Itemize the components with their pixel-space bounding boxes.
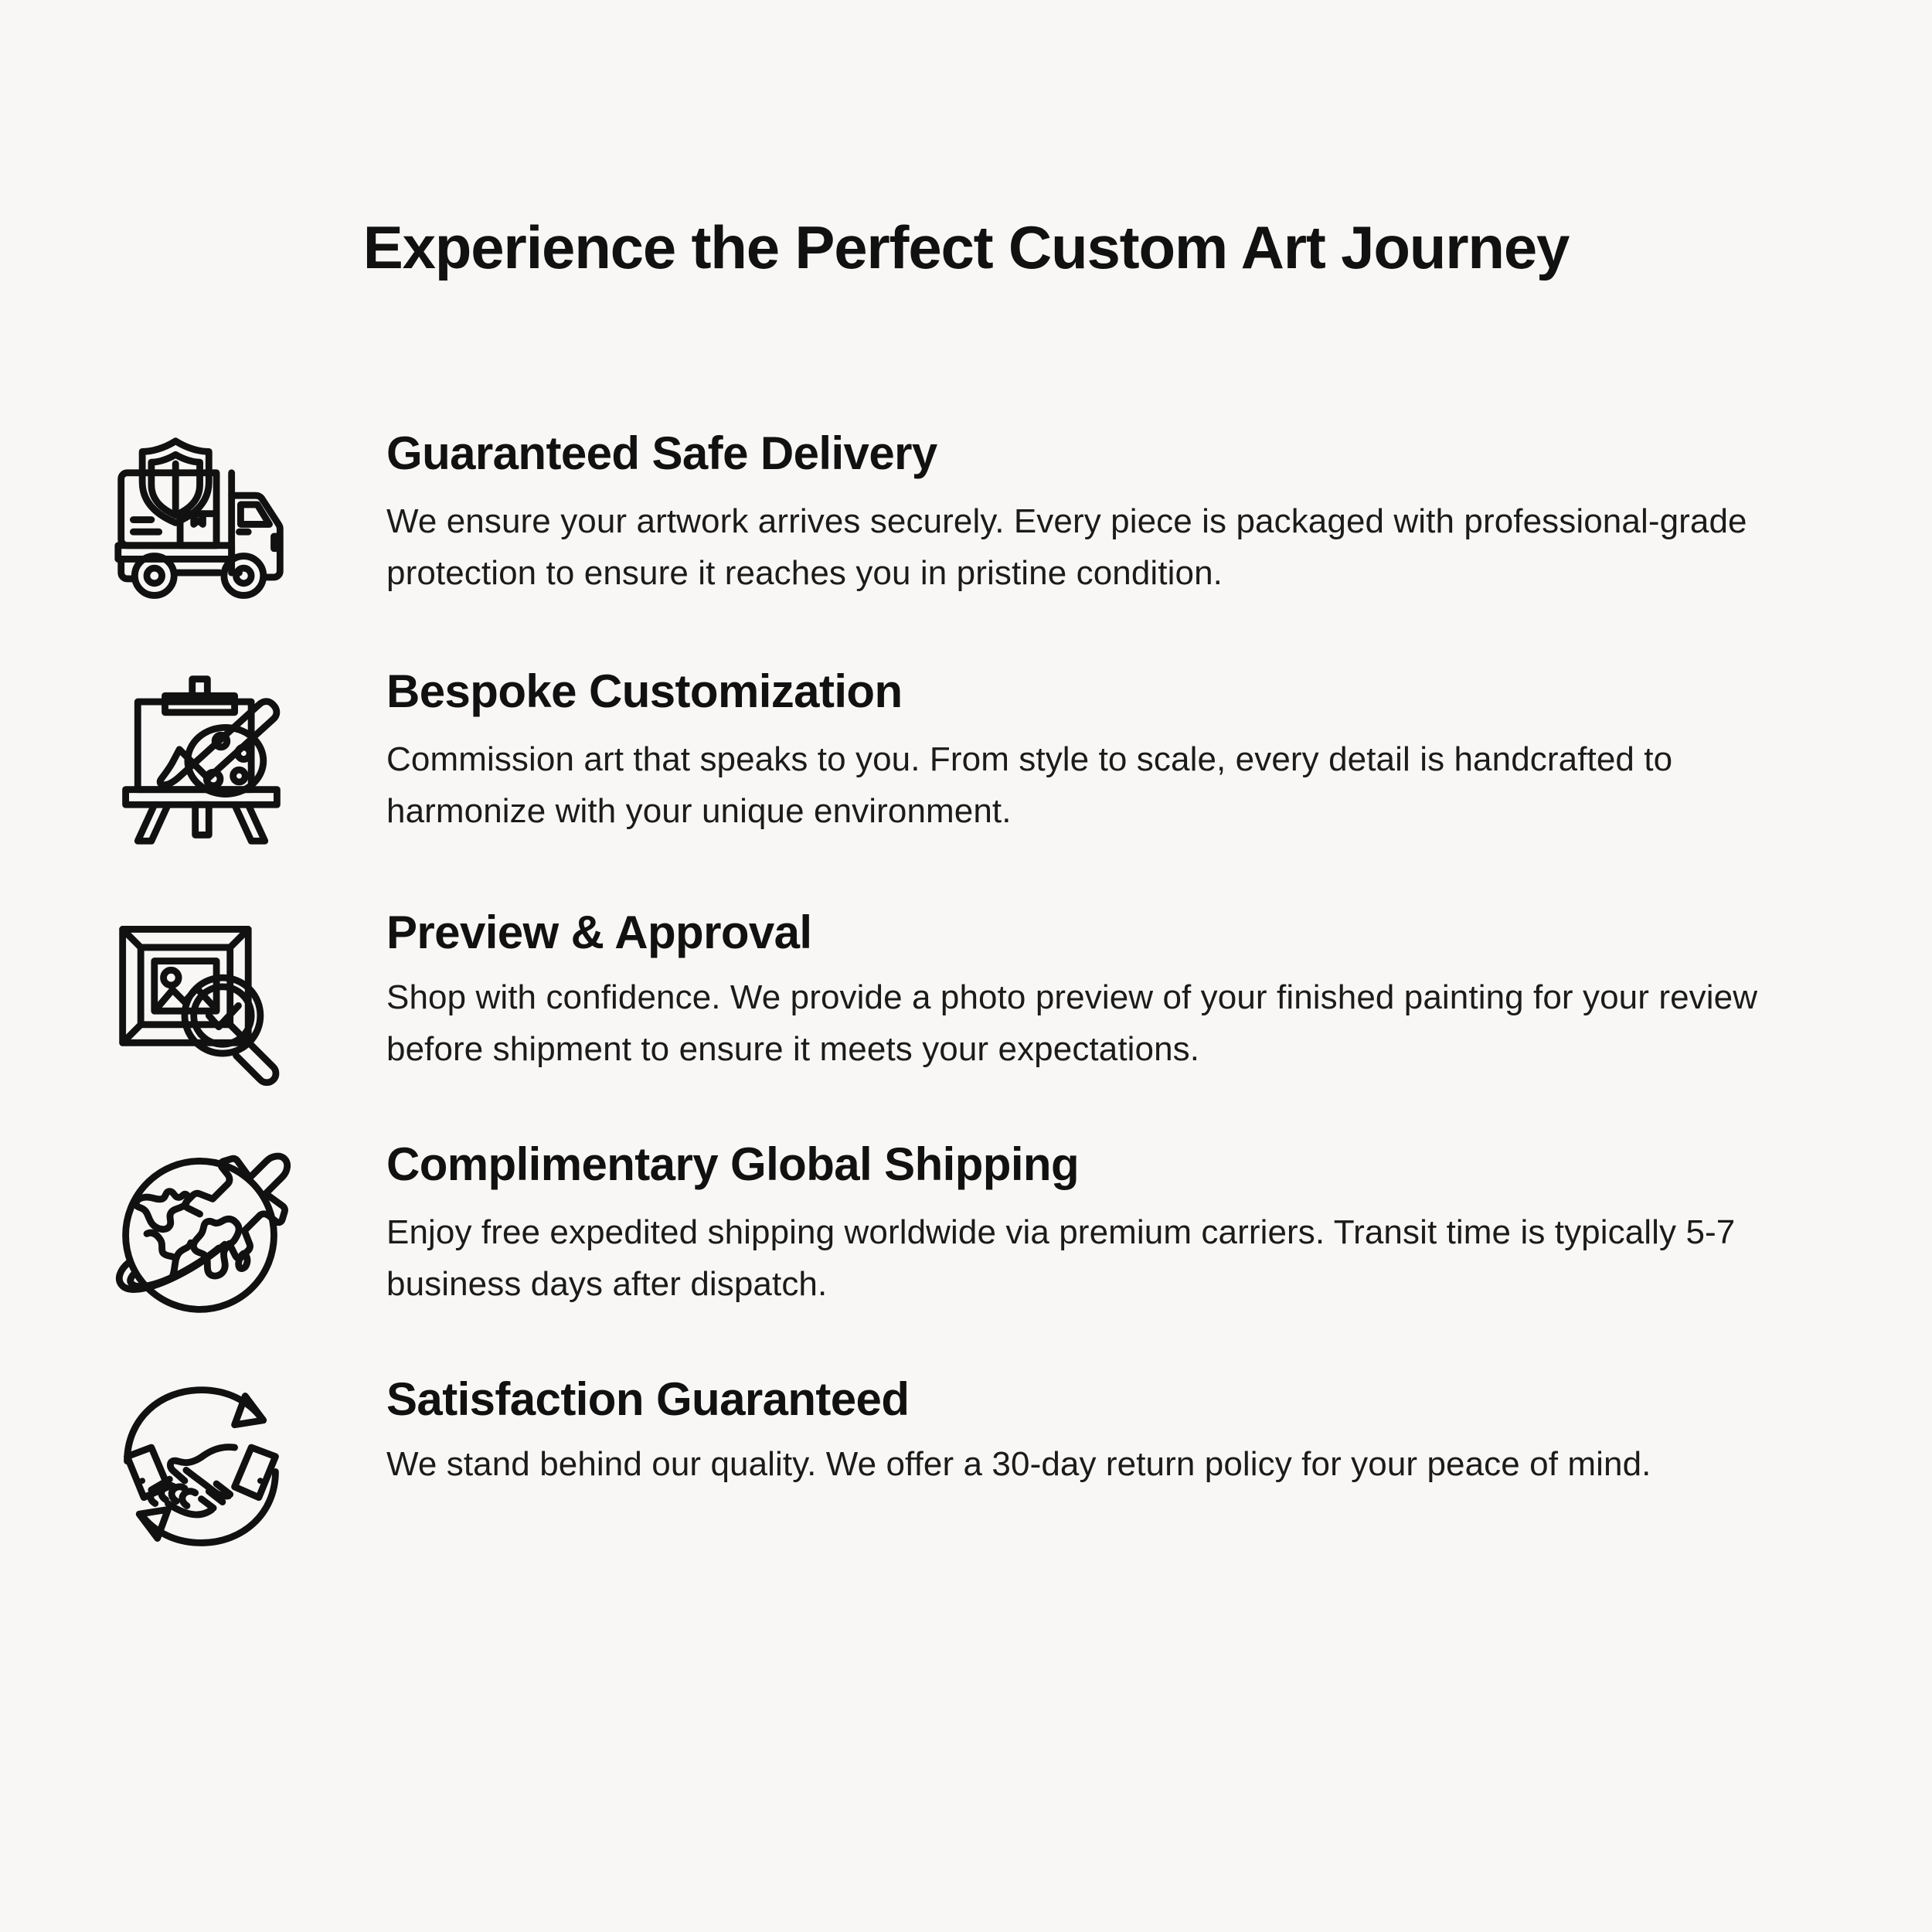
framed-picture-magnifier-check-icon [85, 894, 317, 1103]
feature-item: Bespoke Customization Commission art tha… [85, 653, 1886, 862]
feature-text-block: Complimentary Global Shipping Enjoy free… [317, 1126, 1886, 1311]
feature-description: Shop with confidence. We provide a photo… [386, 972, 1777, 1076]
globe-airplane-icon [85, 1126, 317, 1335]
feature-list: Guaranteed Safe Delivery We ensure your … [0, 415, 1932, 1570]
feature-title: Preview & Approval [386, 908, 1886, 957]
feature-text-block: Bespoke Customization Commission art tha… [317, 653, 1886, 838]
feature-title: Satisfaction Guaranteed [386, 1375, 1886, 1423]
shield-truck-icon [85, 415, 317, 624]
feature-description: Commission art that speaks to you. From … [386, 734, 1685, 838]
feature-text-block: Satisfaction Guaranteed We stand behind … [317, 1361, 1886, 1491]
feature-item: Preview & Approval Shop with confidence.… [85, 894, 1886, 1103]
easel-palette-icon [85, 653, 317, 862]
page-title: Experience the Perfect Custom Art Journe… [0, 0, 1932, 280]
feature-title: Bespoke Customization [386, 667, 1886, 716]
feature-description: Enjoy free expedited shipping worldwide … [386, 1207, 1801, 1311]
feature-text-block: Guaranteed Safe Delivery We ensure your … [317, 415, 1886, 600]
feature-text-block: Preview & Approval Shop with confidence.… [317, 894, 1886, 1076]
feature-item: Guaranteed Safe Delivery We ensure your … [85, 415, 1886, 624]
handshake-refresh-icon [85, 1361, 317, 1570]
feature-description: We stand behind our quality. We offer a … [386, 1439, 1886, 1491]
features-page: Experience the Perfect Custom Art Journe… [0, 0, 1932, 1932]
feature-item: Complimentary Global Shipping Enjoy free… [85, 1126, 1886, 1335]
feature-title: Complimentary Global Shipping [386, 1140, 1886, 1189]
feature-description: We ensure your artwork arrives securely.… [386, 496, 1770, 600]
feature-title: Guaranteed Safe Delivery [386, 429, 1886, 478]
feature-item: Satisfaction Guaranteed We stand behind … [85, 1361, 1886, 1570]
